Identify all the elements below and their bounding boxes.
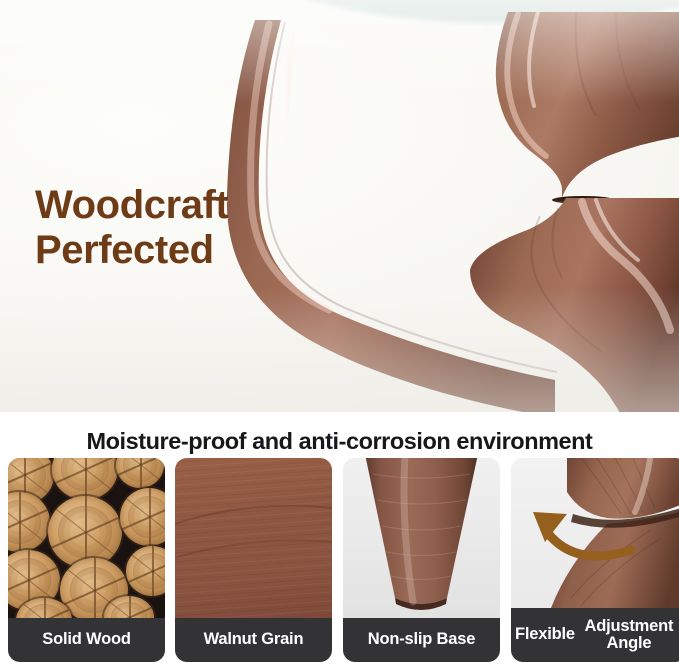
feature-card-non-slip-base[interactable]: Non-slip Base — [343, 458, 500, 662]
wood-leg-lower-right — [470, 198, 679, 412]
walnut-grain-image — [175, 458, 332, 618]
feature-card-walnut-grain[interactable]: Walnut Grain — [175, 458, 332, 662]
features-section: Moisture-proof and anti-corrosion enviro… — [0, 412, 679, 671]
feature-card-solid-wood[interactable]: Solid Wood — [8, 458, 165, 662]
feature-card-label-line-1: Flexible — [515, 626, 575, 643]
hero-section: Woodcraft Perfected — [0, 0, 679, 412]
product-feature-image: Woodcraft Perfected Moisture-proof and a… — [0, 0, 679, 671]
feature-card-label-line-2: Adjustment Angle — [575, 618, 679, 653]
tapered-leg-photo — [343, 458, 500, 618]
headline-line-2: Perfected — [35, 228, 365, 273]
wood-leg-upper-right — [456, 12, 679, 212]
stacked-logs-photo — [8, 458, 165, 618]
headline-line-1: Woodcraft — [35, 183, 228, 227]
feature-card-flexible-adjustment-angle[interactable]: Flexible Adjustment Angle — [511, 458, 679, 662]
feature-card-label: Solid Wood — [8, 618, 165, 662]
features-title: Moisture-proof and anti-corrosion enviro… — [0, 428, 679, 455]
feature-card-label: Walnut Grain — [175, 618, 332, 662]
adjustable-joint-photo — [511, 458, 679, 608]
feature-card-label: Non-slip Base — [343, 618, 500, 662]
feature-cards-row: Solid Wood Walnut Grain — [8, 458, 679, 663]
solid-wood-image — [8, 458, 165, 618]
page-title: Woodcraft Perfected — [35, 183, 365, 273]
walnut-grain-swatch — [175, 458, 332, 618]
feature-card-label: Flexible Adjustment Angle — [511, 608, 679, 662]
adjustable-joint-image — [511, 458, 679, 608]
non-slip-base-image — [343, 458, 500, 618]
